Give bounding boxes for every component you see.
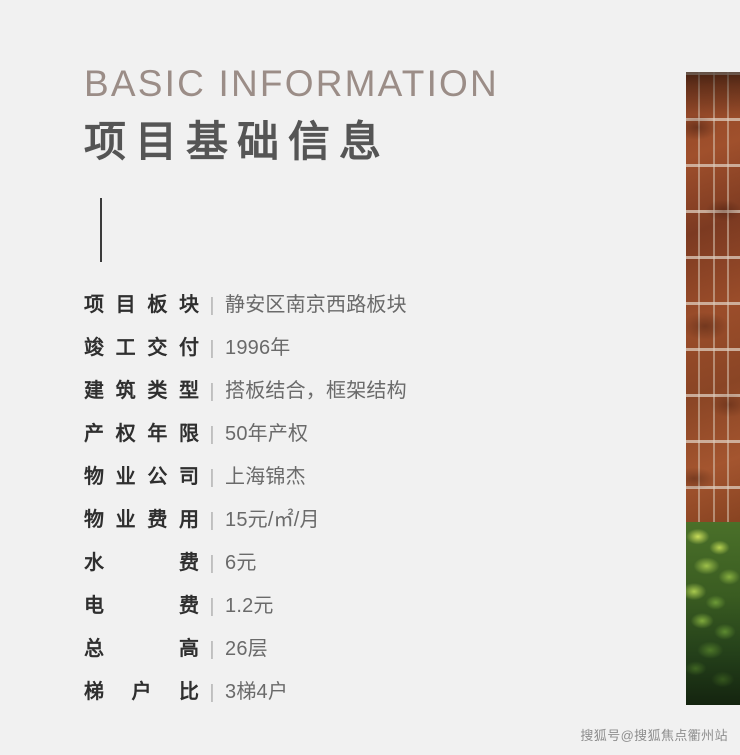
page-header: BASIC INFORMATION 项目基础信息 (84, 62, 604, 172)
title-divider-rule (100, 198, 102, 262)
brick-wall-photo (686, 72, 740, 705)
brick-wall-texture (686, 72, 740, 534)
info-row: 总高|26层 (84, 632, 624, 675)
info-row: 竣工交付|1996年 (84, 331, 624, 374)
info-row-label: 总高 (84, 632, 199, 661)
info-row-separator: | (199, 467, 225, 489)
info-row-value: 上海锦杰 (225, 460, 624, 489)
info-row-separator: | (199, 639, 225, 661)
info-row-value: 静安区南京西路板块 (225, 288, 624, 317)
info-row-value: 1.2元 (225, 589, 624, 618)
info-row-value: 3梯4户 (225, 675, 624, 704)
info-row-label: 产权年限 (84, 417, 199, 446)
info-row-separator: | (199, 295, 225, 317)
info-row-value: 6元 (225, 546, 624, 575)
info-row-label: 项目板块 (84, 288, 199, 317)
info-row-value: 50年产权 (225, 417, 624, 446)
info-row-label: 物业公司 (84, 460, 199, 489)
info-row: 物业费用|15元/㎡/月 (84, 503, 624, 546)
info-row-separator: | (199, 596, 225, 618)
foliage-bush-texture (686, 522, 740, 705)
info-row-label: 物业费用 (84, 503, 199, 532)
page-title-chinese: 项目基础信息 (84, 114, 604, 172)
source-watermark: 搜狐号@搜狐焦点衢州站 (580, 725, 728, 744)
info-row-separator: | (199, 682, 225, 704)
info-row-separator: | (199, 381, 225, 403)
info-row-label: 电费 (84, 589, 199, 618)
info-row-label: 建筑类型 (84, 374, 199, 403)
info-row-label: 水费 (84, 546, 199, 575)
info-row-label: 竣工交付 (84, 331, 199, 360)
info-row: 电费|1.2元 (84, 589, 624, 632)
info-row-value: 26层 (225, 632, 624, 661)
info-row: 物业公司|上海锦杰 (84, 460, 624, 503)
page-title-english: BASIC INFORMATION (84, 62, 604, 106)
info-row-value: 15元/㎡/月 (225, 503, 624, 532)
info-row-separator: | (199, 338, 225, 360)
info-row-value: 搭板结合，框架结构 (225, 374, 624, 403)
info-row-value: 1996年 (225, 331, 624, 360)
info-row-separator: | (199, 424, 225, 446)
info-row: 产权年限|50年产权 (84, 417, 624, 460)
info-row-label: 梯户比 (84, 675, 199, 704)
info-row: 水费|6元 (84, 546, 624, 589)
info-row: 建筑类型|搭板结合，框架结构 (84, 374, 624, 417)
info-row-separator: | (199, 510, 225, 532)
page-root: BASIC INFORMATION 项目基础信息 项目板块|静安区南京西路板块竣… (0, 0, 740, 755)
info-row: 梯户比|3梯4户 (84, 675, 624, 718)
basic-information-list: 项目板块|静安区南京西路板块竣工交付|1996年建筑类型|搭板结合，框架结构产权… (84, 288, 624, 718)
info-row-separator: | (199, 553, 225, 575)
info-row: 项目板块|静安区南京西路板块 (84, 288, 624, 331)
